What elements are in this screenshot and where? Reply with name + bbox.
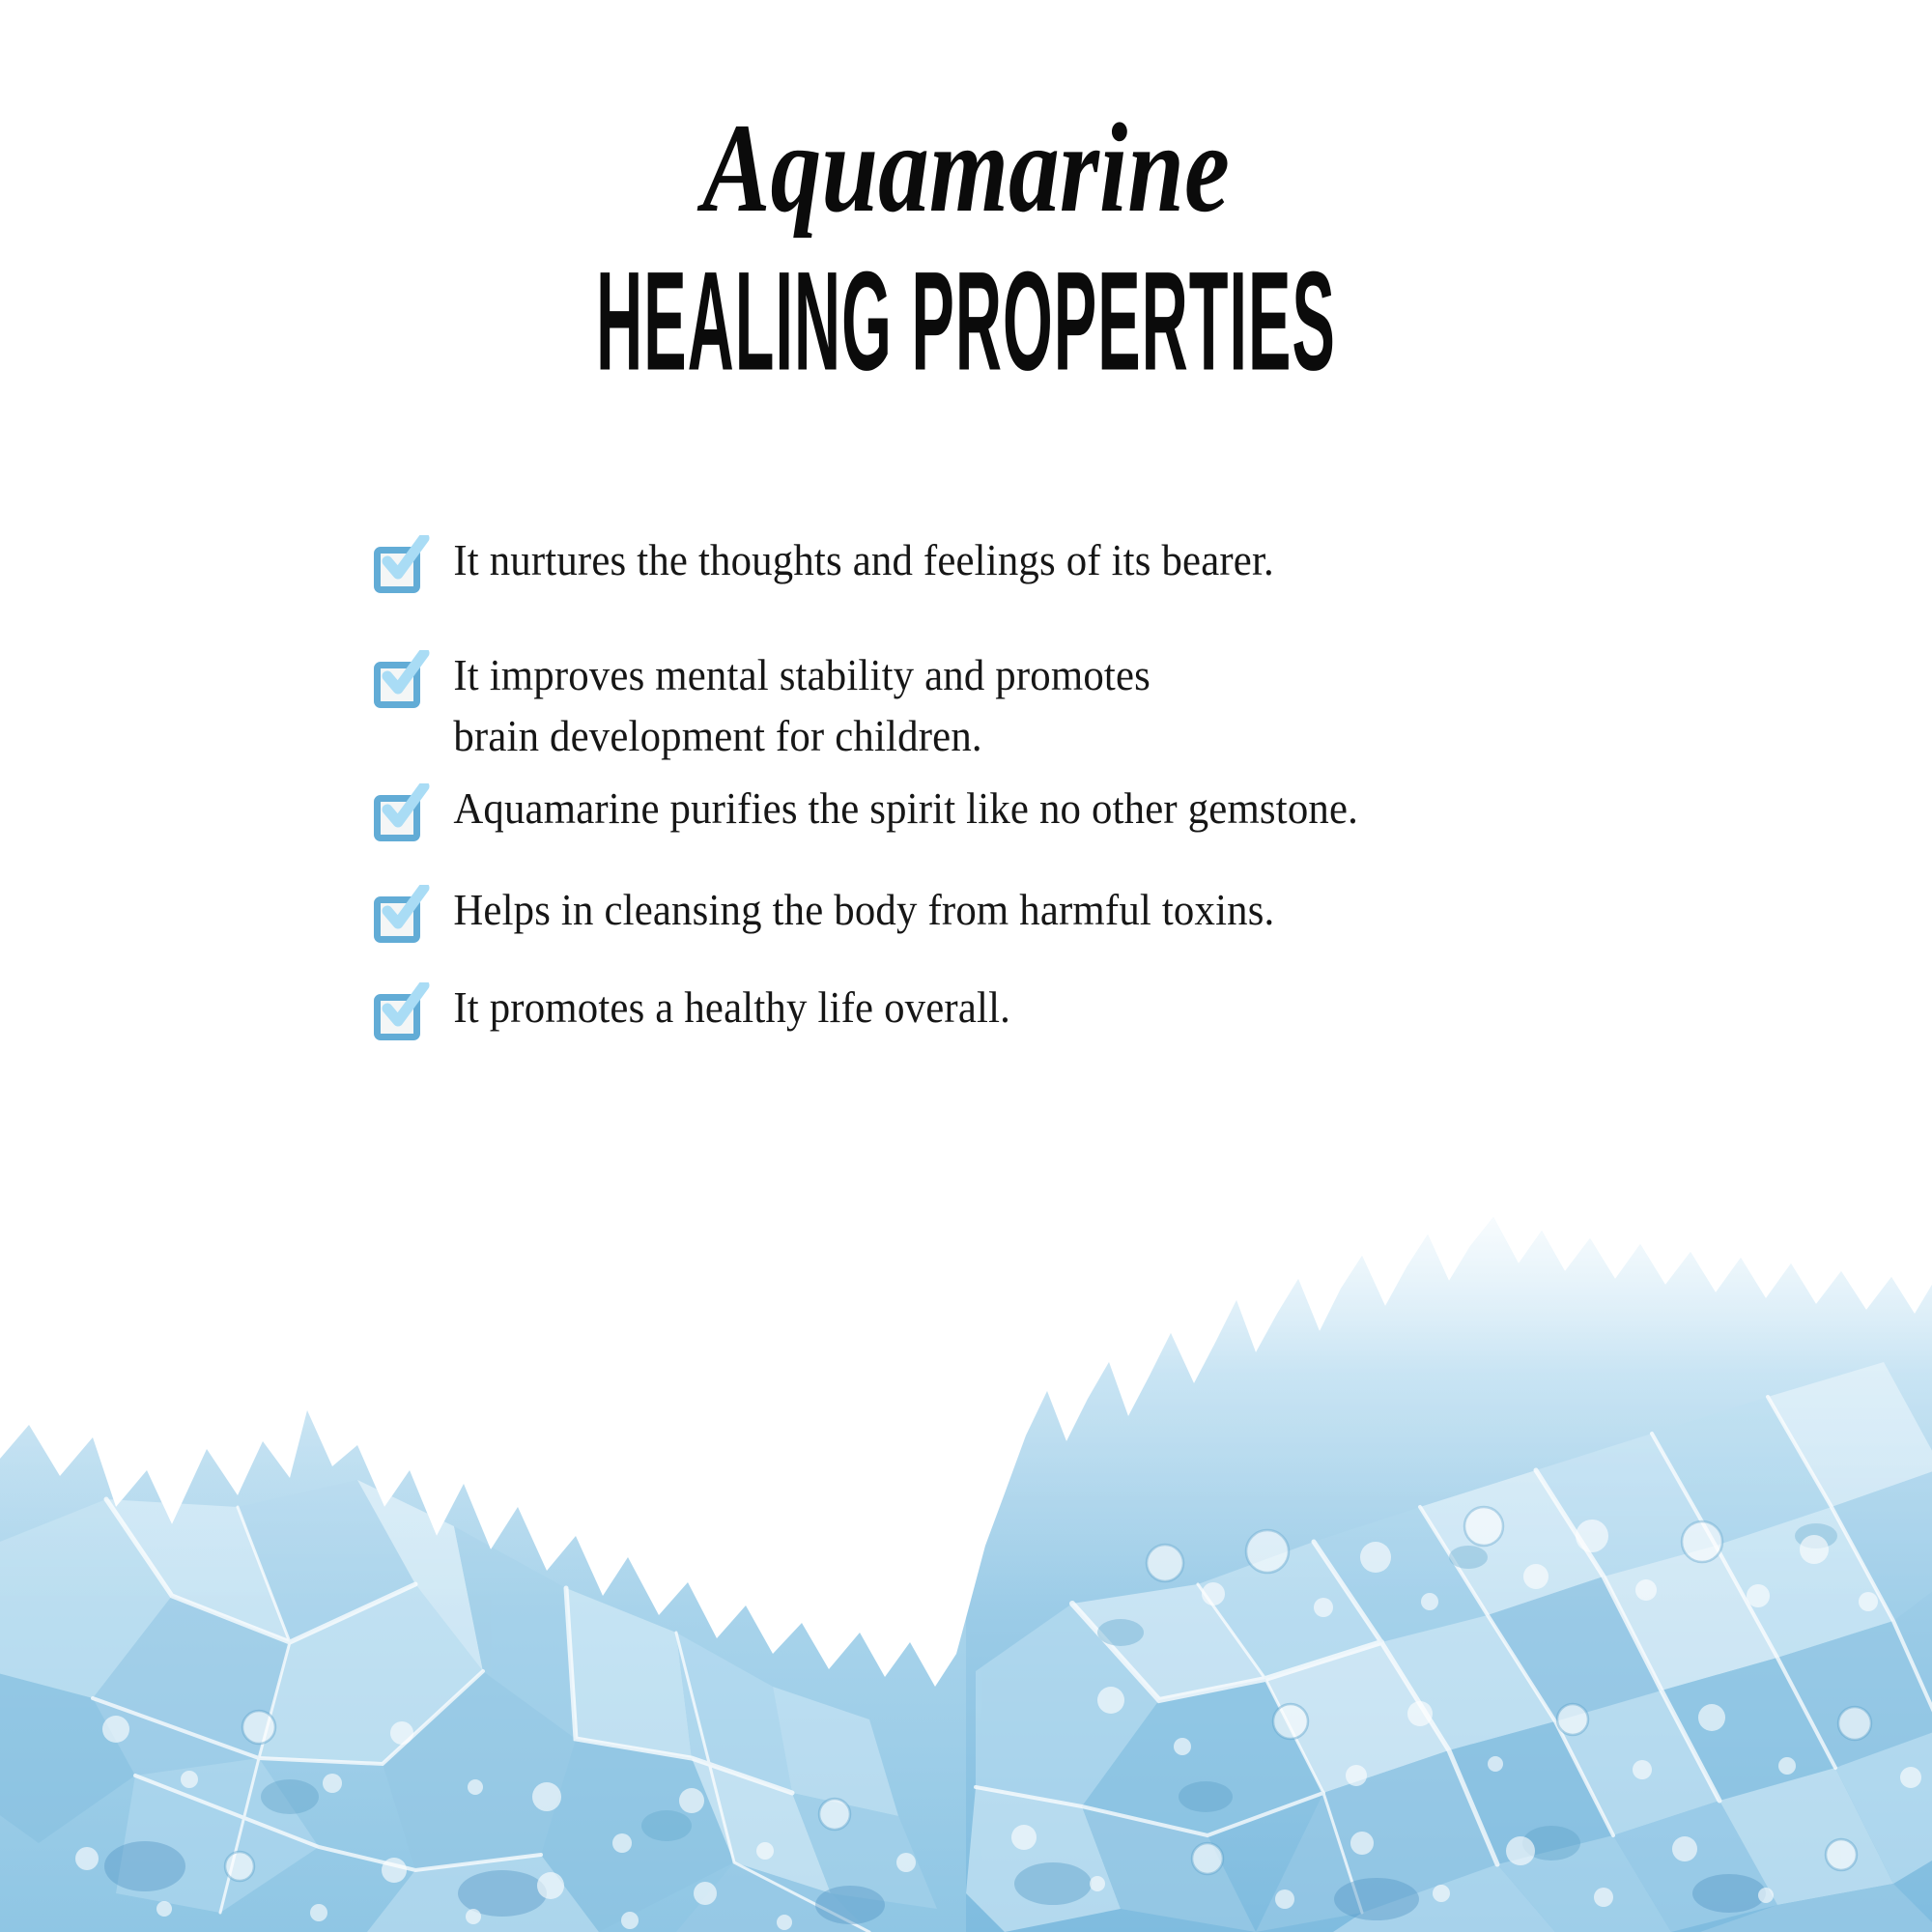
- ice-cubes-illustration: [0, 1217, 1932, 1932]
- list-item-text: Aquamarine purifies the spirit like no o…: [432, 778, 1706, 838]
- checkbox-square: [374, 662, 420, 708]
- checkbox-checked-icon: [372, 783, 432, 836]
- healing-properties-list: It nurtures the thoughts and feelings of…: [372, 529, 1802, 1037]
- checkbox-checked-icon: [372, 982, 432, 1035]
- spacer: [372, 838, 1802, 879]
- checkbox-checked-icon: [372, 535, 432, 587]
- ice-cubes-photo: [0, 1217, 1932, 1932]
- list-item-text: Helps in cleansing the body from harmful…: [432, 879, 1706, 940]
- list-item: Helps in cleansing the body from harmful…: [372, 879, 1802, 940]
- spacer: [372, 940, 1802, 977]
- checkbox-square: [374, 795, 420, 841]
- header: Aquamarine HEALING PROPERTIES: [0, 0, 1932, 373]
- checkbox-square: [374, 547, 420, 593]
- checkbox-checked-icon: [372, 650, 432, 702]
- list-item: Aquamarine purifies the spirit like no o…: [372, 778, 1802, 838]
- checkbox-square: [374, 994, 420, 1040]
- poster-canvas: Aquamarine HEALING PROPERTIES It nurture…: [0, 0, 1932, 1932]
- list-item-text: It improves mental stability and promote…: [432, 644, 1706, 766]
- checkbox-square: [374, 896, 420, 943]
- spacer: [372, 590, 1802, 644]
- list-item: It nurtures the thoughts and feelings of…: [372, 529, 1802, 590]
- list-item: It improves mental stability and promote…: [372, 644, 1802, 766]
- spacer: [372, 766, 1802, 778]
- list-item-text: It nurtures the thoughts and feelings of…: [432, 529, 1706, 590]
- page-title-script: Aquamarine: [193, 0, 1739, 232]
- list-item: It promotes a healthy life overall.: [372, 977, 1802, 1037]
- page-title-subheading: HEALING PROPERTIES: [464, 232, 1468, 392]
- checkbox-checked-icon: [372, 885, 432, 937]
- list-item-text: It promotes a healthy life overall.: [432, 977, 1706, 1037]
